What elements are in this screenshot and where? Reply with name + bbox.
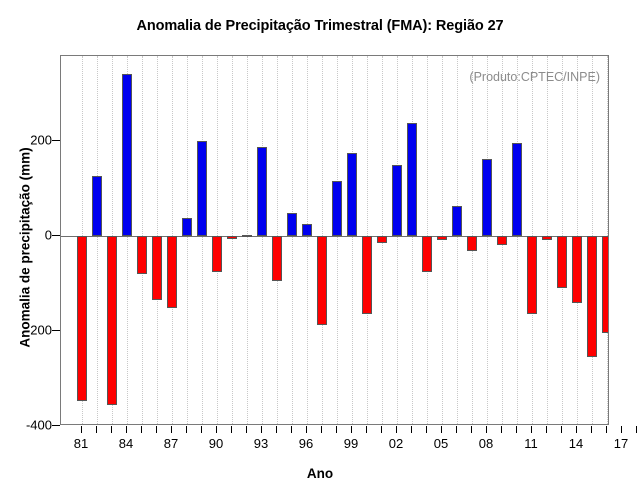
y-tick-mark <box>52 330 60 331</box>
x-tick-label: 14 <box>561 436 591 451</box>
bar-82 <box>92 176 103 237</box>
x-tick-mark <box>381 426 382 433</box>
gridline <box>487 56 489 424</box>
x-tick-mark <box>606 426 607 433</box>
x-tick-mark <box>171 426 172 433</box>
bar-00 <box>362 236 373 313</box>
x-tick-mark <box>336 426 337 433</box>
x-tick-label: 90 <box>201 436 231 451</box>
x-tick-mark <box>246 426 247 433</box>
x-tick-mark <box>321 426 322 433</box>
x-tick-mark <box>531 426 532 433</box>
x-tick-mark <box>201 426 202 433</box>
bar-93 <box>257 147 268 236</box>
x-tick-mark <box>441 426 442 433</box>
x-tick-label: 05 <box>426 436 456 451</box>
x-tick-mark <box>396 426 397 433</box>
bar-88 <box>182 218 193 236</box>
x-tick-mark <box>576 426 577 433</box>
bar-10 <box>512 143 523 236</box>
x-tick-mark <box>126 426 127 433</box>
x-tick-mark <box>591 426 592 433</box>
gridline <box>247 56 249 424</box>
bar-08 <box>482 159 493 236</box>
chart-title: Anomalia de Precipitação Trimestral (FMA… <box>0 18 640 34</box>
gridline <box>97 56 99 424</box>
x-tick-label: 96 <box>291 436 321 451</box>
x-tick-label: 81 <box>66 436 96 451</box>
bar-11 <box>527 236 538 313</box>
y-tick-mark <box>52 235 60 236</box>
x-tick-mark <box>411 426 412 433</box>
bar-04 <box>422 236 433 272</box>
bar-13 <box>557 236 568 288</box>
bar-86 <box>152 236 163 300</box>
x-tick-mark <box>456 426 457 433</box>
x-axis: 818487909396990205081114172023 <box>60 426 609 466</box>
x-tick-mark <box>306 426 307 433</box>
credit-annotation: (Produto:CPTEC/INPE) <box>469 70 600 84</box>
x-tick-mark <box>231 426 232 433</box>
x-tick-mark <box>96 426 97 433</box>
bar-83 <box>107 236 118 404</box>
bar-85 <box>137 236 148 274</box>
bar-02 <box>392 165 403 236</box>
bar-07 <box>467 236 478 251</box>
x-tick-mark <box>141 426 142 433</box>
bar-92 <box>242 235 253 237</box>
gridline <box>412 56 414 424</box>
x-tick-label: 11 <box>516 436 546 451</box>
gridline <box>397 56 399 424</box>
bar-97 <box>317 236 328 325</box>
x-tick-label: 17 <box>606 436 636 451</box>
x-tick-mark <box>351 426 352 433</box>
y-tick-mark <box>52 425 60 426</box>
bar-16 <box>602 236 609 333</box>
x-tick-label: 93 <box>246 436 276 451</box>
bar-98 <box>332 181 343 237</box>
x-tick-mark <box>561 426 562 433</box>
x-tick-mark <box>366 426 367 433</box>
bar-94 <box>272 236 283 281</box>
gridline <box>307 56 309 424</box>
gridline <box>292 56 294 424</box>
bar-96 <box>302 224 313 236</box>
bar-91 <box>227 236 238 238</box>
x-tick-label: 08 <box>471 436 501 451</box>
bar-89 <box>197 141 208 236</box>
bar-09 <box>497 236 508 245</box>
x-tick-mark <box>471 426 472 433</box>
x-tick-mark <box>186 426 187 433</box>
x-tick-mark <box>636 426 637 433</box>
x-tick-mark <box>156 426 157 433</box>
x-tick-mark <box>111 426 112 433</box>
x-tick-mark <box>81 426 82 433</box>
bar-87 <box>167 236 178 308</box>
x-tick-mark <box>486 426 487 433</box>
gridline <box>517 56 519 424</box>
gridline <box>202 56 204 424</box>
bar-03 <box>407 123 418 236</box>
bar-06 <box>452 206 463 236</box>
gridline <box>352 56 354 424</box>
y-axis-title: Anomalia de precipitação (mm) <box>18 118 33 378</box>
x-tick-label: 02 <box>381 436 411 451</box>
gridline <box>262 56 264 424</box>
x-tick-mark <box>516 426 517 433</box>
x-tick-label: 99 <box>336 436 366 451</box>
x-tick-mark <box>426 426 427 433</box>
bar-84 <box>122 74 133 236</box>
y-tick-mark <box>52 140 60 141</box>
x-tick-mark <box>291 426 292 433</box>
gridline <box>457 56 459 424</box>
gridline <box>187 56 189 424</box>
bar-01 <box>377 236 388 243</box>
plot-area: (Produto:CPTEC/INPE) <box>60 55 609 425</box>
x-tick-mark <box>546 426 547 433</box>
x-tick-mark <box>276 426 277 433</box>
x-tick-mark <box>261 426 262 433</box>
x-tick-mark <box>216 426 217 433</box>
gridline <box>232 56 234 424</box>
bar-05 <box>437 236 448 240</box>
bar-14 <box>572 236 583 302</box>
x-tick-label: 84 <box>111 436 141 451</box>
bar-90 <box>212 236 223 272</box>
bar-81 <box>77 236 88 401</box>
bar-15 <box>587 236 598 357</box>
precipitation-anomaly-chart: Anomalia de Precipitação Trimestral (FMA… <box>0 0 640 500</box>
x-tick-mark <box>621 426 622 433</box>
bar-99 <box>347 153 358 236</box>
x-axis-title: Ano <box>0 466 640 481</box>
y-tick-label: -400 <box>10 418 52 433</box>
bar-95 <box>287 213 298 236</box>
x-tick-label: 87 <box>156 436 186 451</box>
x-tick-mark <box>501 426 502 433</box>
bar-12 <box>542 236 553 240</box>
gridline <box>337 56 339 424</box>
